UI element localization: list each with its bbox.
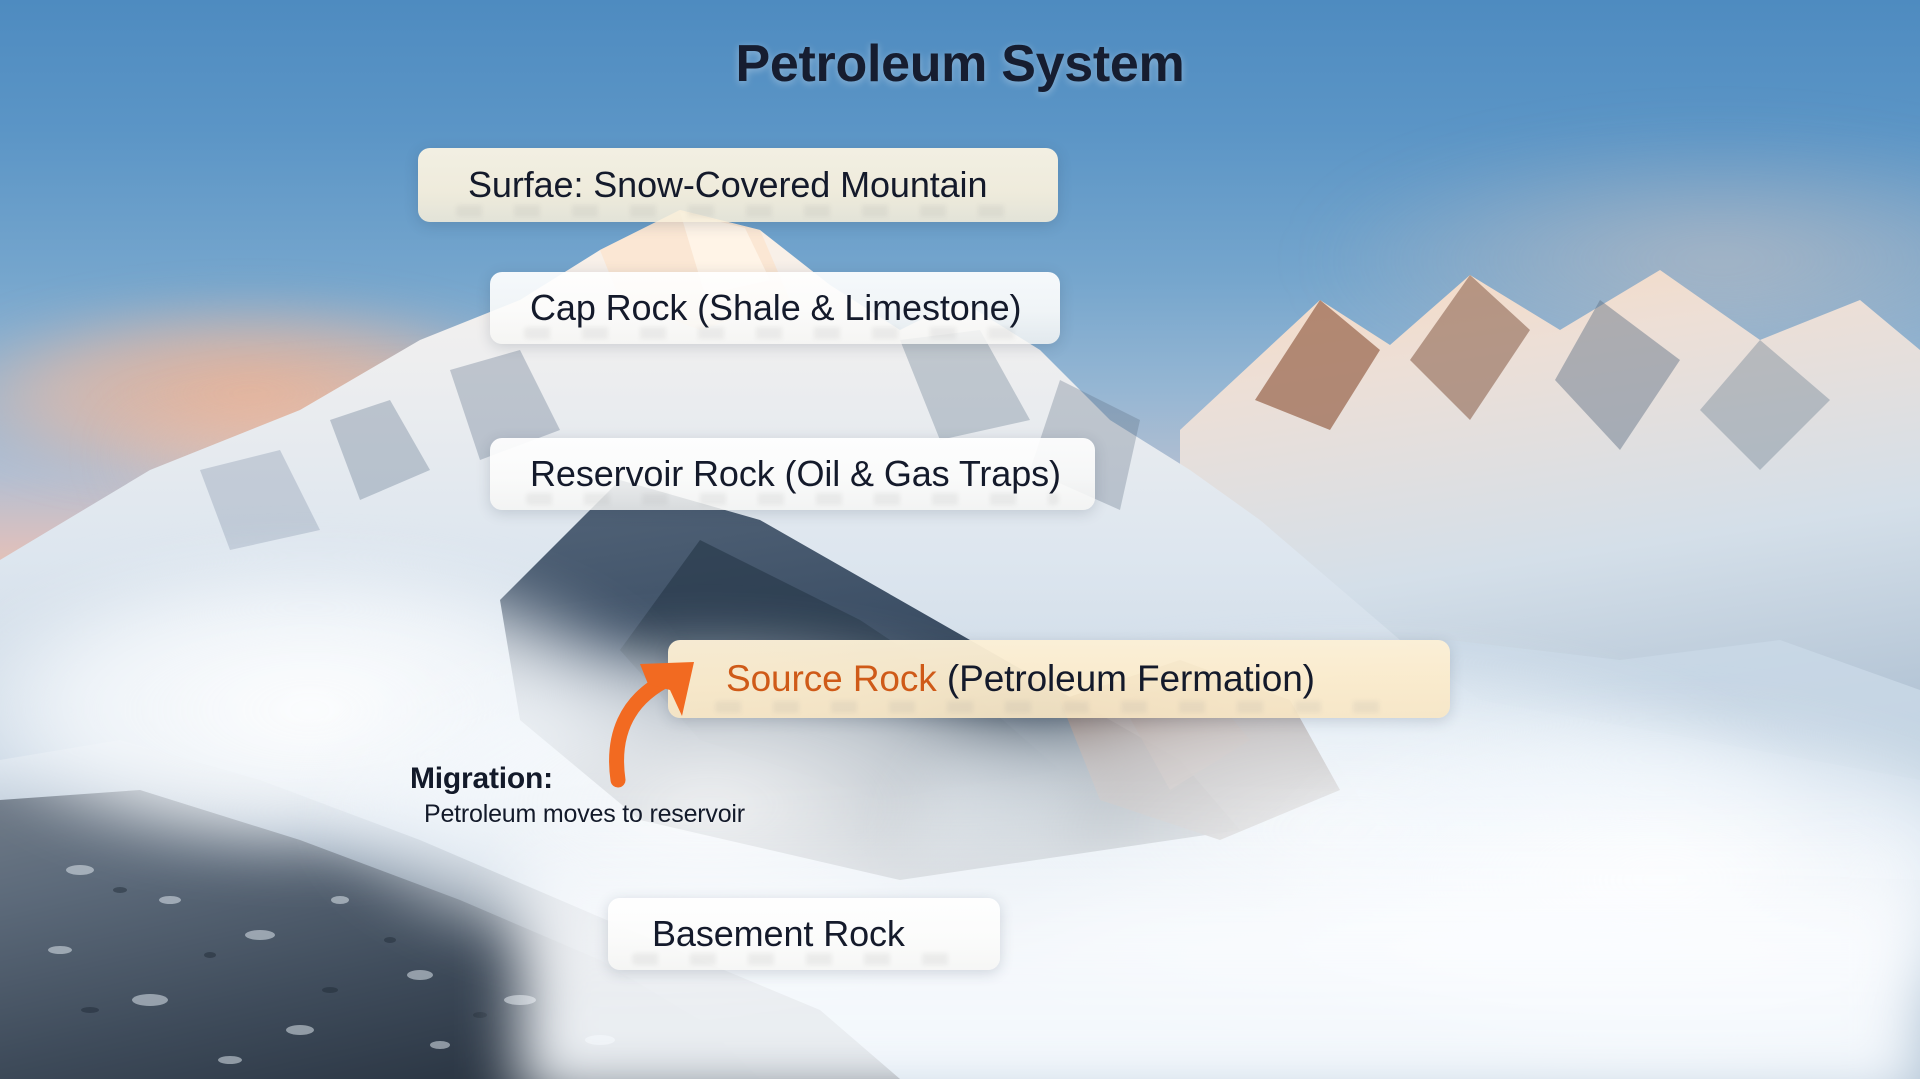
layer-label-reservoir-rock-text: Reservoir Rock (Oil & Gas Traps) — [530, 453, 1061, 495]
page-title: Petroleum System — [0, 34, 1920, 94]
layer-label-basement-rock-text: Basement Rock — [652, 913, 905, 955]
layer-label-cap-rock[interactable]: Cap Rock (Shale & Limestone) — [490, 272, 1060, 344]
layer-label-surface-text: Surfae: Snow-Covered Mountain — [468, 164, 987, 206]
layer-label-surface[interactable]: Surfae: Snow-Covered Mountain — [418, 148, 1058, 222]
migration-title: Migration: — [410, 762, 745, 796]
label-smudge — [456, 205, 1019, 217]
layer-label-source-rock[interactable]: Source Rock (Petroleum Fermation) — [668, 640, 1450, 718]
label-smudge — [715, 701, 1403, 713]
source-rock-highlight-text: Source Rock — [726, 658, 937, 699]
layer-label-cap-rock-text: Cap Rock (Shale & Limestone) — [530, 287, 1021, 329]
migration-annotation: Migration: Petroleum moves to reservoir — [410, 762, 745, 829]
source-rock-rest-text: (Petroleum Fermation) — [937, 658, 1315, 699]
migration-description: Petroleum moves to reservoir — [424, 800, 745, 829]
layer-label-reservoir-rock[interactable]: Reservoir Rock (Oil & Gas Traps) — [490, 438, 1095, 510]
petroleum-system-infographic: Petroleum System Surfae: Snow-Covered Mo… — [0, 0, 1920, 1079]
layer-label-basement-rock[interactable]: Basement Rock — [608, 898, 1000, 970]
